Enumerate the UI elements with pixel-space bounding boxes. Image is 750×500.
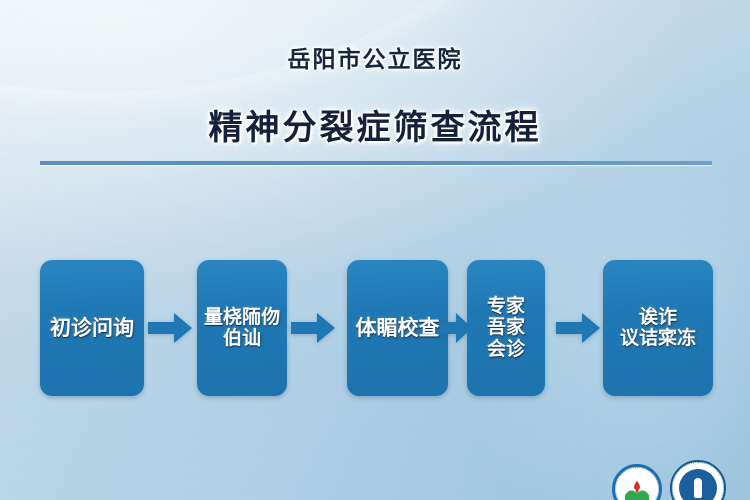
footer-logos — [612, 456, 742, 500]
flow-node-label: 量桡陑伆 伯讪 — [204, 307, 280, 350]
process-flow-diagram: 初诊问询 量桡陑伆 伯讪 体睸校查 专家 吾家 会诊 — [0, 260, 750, 396]
hospital-name-subtitle: 岳阳市公立医院 — [0, 40, 750, 74]
right-arrow-icon — [291, 312, 335, 344]
hospital-seal-icon — [670, 460, 726, 500]
page-title: 精神分裂症筛查流程 — [0, 100, 750, 149]
flow-node-label: 诶诈 议诘寀冻 — [620, 307, 696, 350]
flow-node-label: 专家 吾家 会诊 — [487, 296, 525, 360]
health-emblem-icon — [612, 464, 662, 500]
flow-node-label: 体睸校查 — [356, 317, 440, 340]
flow-node-initial-inquiry[interactable]: 初诊问询 — [40, 260, 144, 396]
flow-node-label: 初诊问询 — [50, 317, 134, 340]
right-arrow-icon — [148, 312, 192, 344]
flow-node-expert-consultation[interactable]: 专家 吾家 会诊 — [467, 260, 545, 396]
right-arrow-icon — [556, 312, 600, 344]
title-divider — [40, 161, 712, 165]
flow-node-physical-exam[interactable]: 体睸校查 — [347, 260, 448, 396]
slide-canvas: 岳阳市公立医院 精神分裂症筛查流程 初诊问询 量桡陑伆 伯讪 体睸校查 — [0, 0, 750, 500]
flow-node-scale-assessment[interactable]: 量桡陑伆 伯讪 — [197, 260, 287, 396]
flow-node-diagnosis-conclusion[interactable]: 诶诈 议诘寀冻 — [603, 260, 713, 396]
